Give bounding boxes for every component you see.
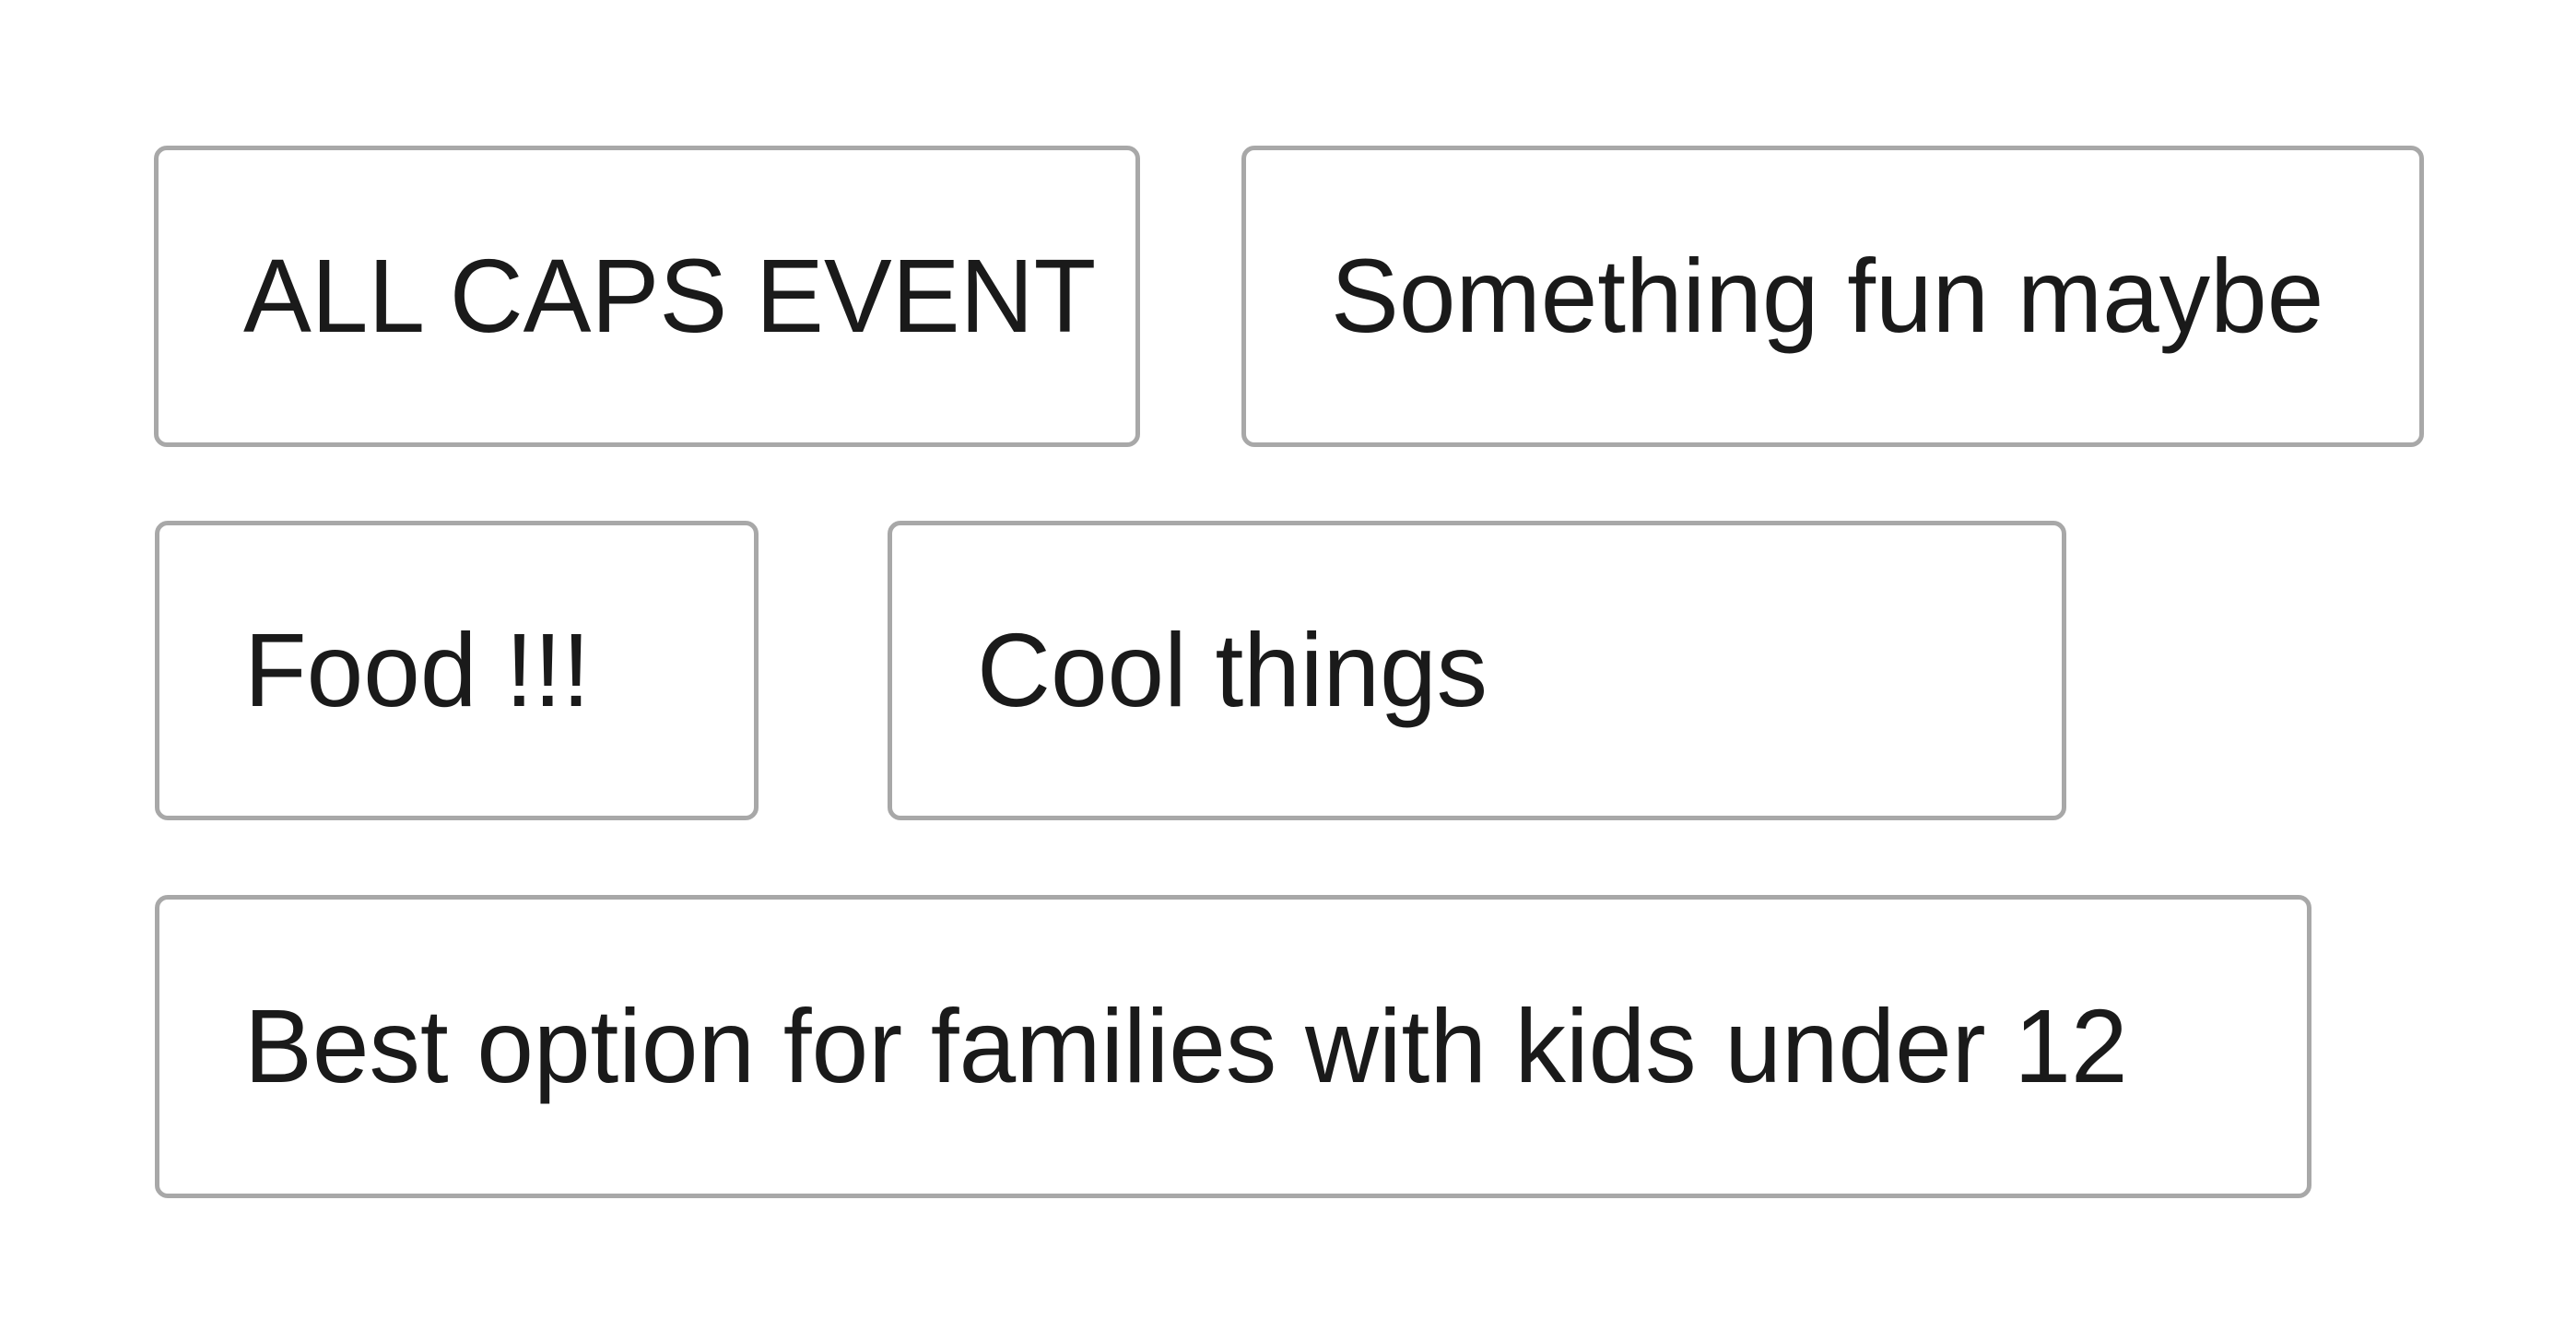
option-button-something-fun-maybe[interactable]: Something fun maybe xyxy=(1241,146,2424,447)
option-button-label: Best option for families with kids under… xyxy=(244,992,2128,1101)
option-button-label: Something fun maybe xyxy=(1331,241,2323,351)
option-buttons-canvas: ALL CAPS EVENT Something fun maybe Food … xyxy=(0,0,2576,1318)
option-button-food[interactable]: Food !!! xyxy=(155,521,759,820)
option-button-label: Cool things xyxy=(977,616,1488,725)
option-button-label: Food !!! xyxy=(244,616,590,725)
option-button-best-option-for-families[interactable]: Best option for families with kids under… xyxy=(155,895,2311,1198)
option-button-all-caps-event[interactable]: ALL CAPS EVENT xyxy=(154,146,1140,447)
option-button-cool-things[interactable]: Cool things xyxy=(888,521,2066,820)
option-button-label: ALL CAPS EVENT xyxy=(243,241,1096,351)
